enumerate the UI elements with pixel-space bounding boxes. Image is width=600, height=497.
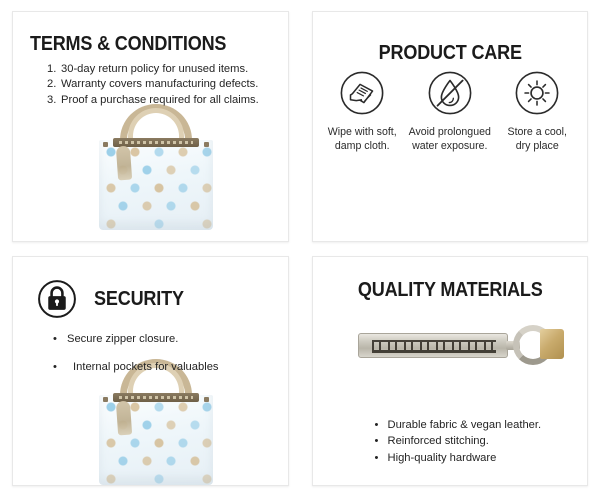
care-caption-wipe: Wipe with soft, damp cloth. bbox=[328, 125, 397, 153]
handbag-stud bbox=[103, 397, 108, 402]
list-number: 3. bbox=[47, 93, 61, 108]
list-text: Secure zipper closure. bbox=[67, 333, 178, 345]
panel-security: SECURITY •Secure zipper closure. •Intern… bbox=[12, 256, 289, 487]
list-text: High-quality hardware bbox=[388, 452, 497, 464]
care-item-wipe: Wipe with soft, damp cloth. bbox=[319, 70, 407, 153]
list-text: 30-day return policy for unused items. bbox=[61, 63, 248, 75]
care-caption-no-water: Avoid prolongued water exposure. bbox=[409, 125, 491, 153]
handbag-top-bar bbox=[113, 393, 199, 402]
wipe-cloth-icon bbox=[339, 70, 385, 116]
greek-key-pattern bbox=[372, 340, 496, 353]
panel-title-product-care: PRODUCT CARE bbox=[329, 41, 571, 65]
bullet-glyph: • bbox=[375, 433, 388, 450]
list-item: 1.30-day return policy for unused items. bbox=[47, 62, 259, 77]
list-text: Durable fabric & vegan leather. bbox=[388, 419, 542, 431]
handbag-tassel bbox=[116, 400, 132, 435]
security-list: •Secure zipper closure. •Internal pocket… bbox=[53, 333, 219, 389]
panel-title-terms: TERMS & CONDITIONS bbox=[30, 32, 226, 56]
handbag-stud bbox=[103, 142, 108, 147]
list-number: 1. bbox=[47, 62, 61, 77]
panel-product-care: PRODUCT CARE Wipe with soft, damp cloth. bbox=[312, 11, 589, 242]
list-item: •High-quality hardware bbox=[375, 450, 542, 467]
security-header: SECURITY bbox=[37, 279, 196, 319]
bullet-glyph: • bbox=[375, 450, 388, 467]
list-text: Internal pockets for valuables bbox=[73, 361, 219, 373]
list-item: •Internal pockets for valuables bbox=[53, 361, 219, 373]
no-water-icon bbox=[427, 70, 473, 116]
list-text: Proof a purchase required for all claims… bbox=[61, 94, 259, 106]
terms-list: 1.30-day return policy for unused items.… bbox=[47, 62, 259, 108]
handbag-stud bbox=[204, 142, 209, 147]
hardware-bar bbox=[358, 333, 508, 358]
list-item: 2.Warranty covers manufacturing defects. bbox=[47, 77, 259, 92]
hardware-clasp-image bbox=[358, 319, 563, 371]
care-item-store-cool: Store a cool, dry place bbox=[494, 70, 582, 153]
panel-title-quality-materials: QUALITY MATERIALS bbox=[329, 278, 571, 302]
bullet-glyph: • bbox=[375, 417, 388, 434]
care-item-no-water: Avoid prolongued water exposure. bbox=[406, 70, 494, 153]
panel-title-security: SECURITY bbox=[94, 287, 184, 311]
list-number: 2. bbox=[47, 77, 61, 92]
handbag-tassel bbox=[116, 146, 132, 181]
lock-icon bbox=[37, 279, 77, 319]
bullet-glyph: • bbox=[53, 333, 67, 345]
panel-terms-and-conditions: TERMS & CONDITIONS 1.30-day return polic… bbox=[12, 11, 289, 242]
hardware-gold-accent bbox=[540, 329, 564, 359]
list-item: •Reinforced stitching. bbox=[375, 433, 542, 450]
sun-icon bbox=[514, 70, 560, 116]
bullet-glyph: • bbox=[53, 361, 73, 373]
quality-materials-list: •Durable fabric & vegan leather. •Reinfo… bbox=[375, 417, 542, 467]
handbag-stud bbox=[204, 397, 209, 402]
list-item: 3.Proof a purchase required for all clai… bbox=[47, 93, 259, 108]
care-icon-row: Wipe with soft, damp cloth. Avoid prolon… bbox=[319, 70, 582, 153]
panel-quality-materials: QUALITY MATERIALS •Durable fabric & vega… bbox=[312, 256, 589, 487]
list-text: Warranty covers manufacturing defects. bbox=[61, 78, 258, 90]
feature-panel-grid: TERMS & CONDITIONS 1.30-day return polic… bbox=[0, 0, 600, 497]
list-item: •Durable fabric & vegan leather. bbox=[375, 417, 542, 434]
list-text: Reinforced stitching. bbox=[388, 435, 489, 447]
care-caption-store-cool: Store a cool, dry place bbox=[508, 125, 567, 153]
handbag-image bbox=[91, 104, 221, 234]
list-item: •Secure zipper closure. bbox=[53, 333, 219, 345]
